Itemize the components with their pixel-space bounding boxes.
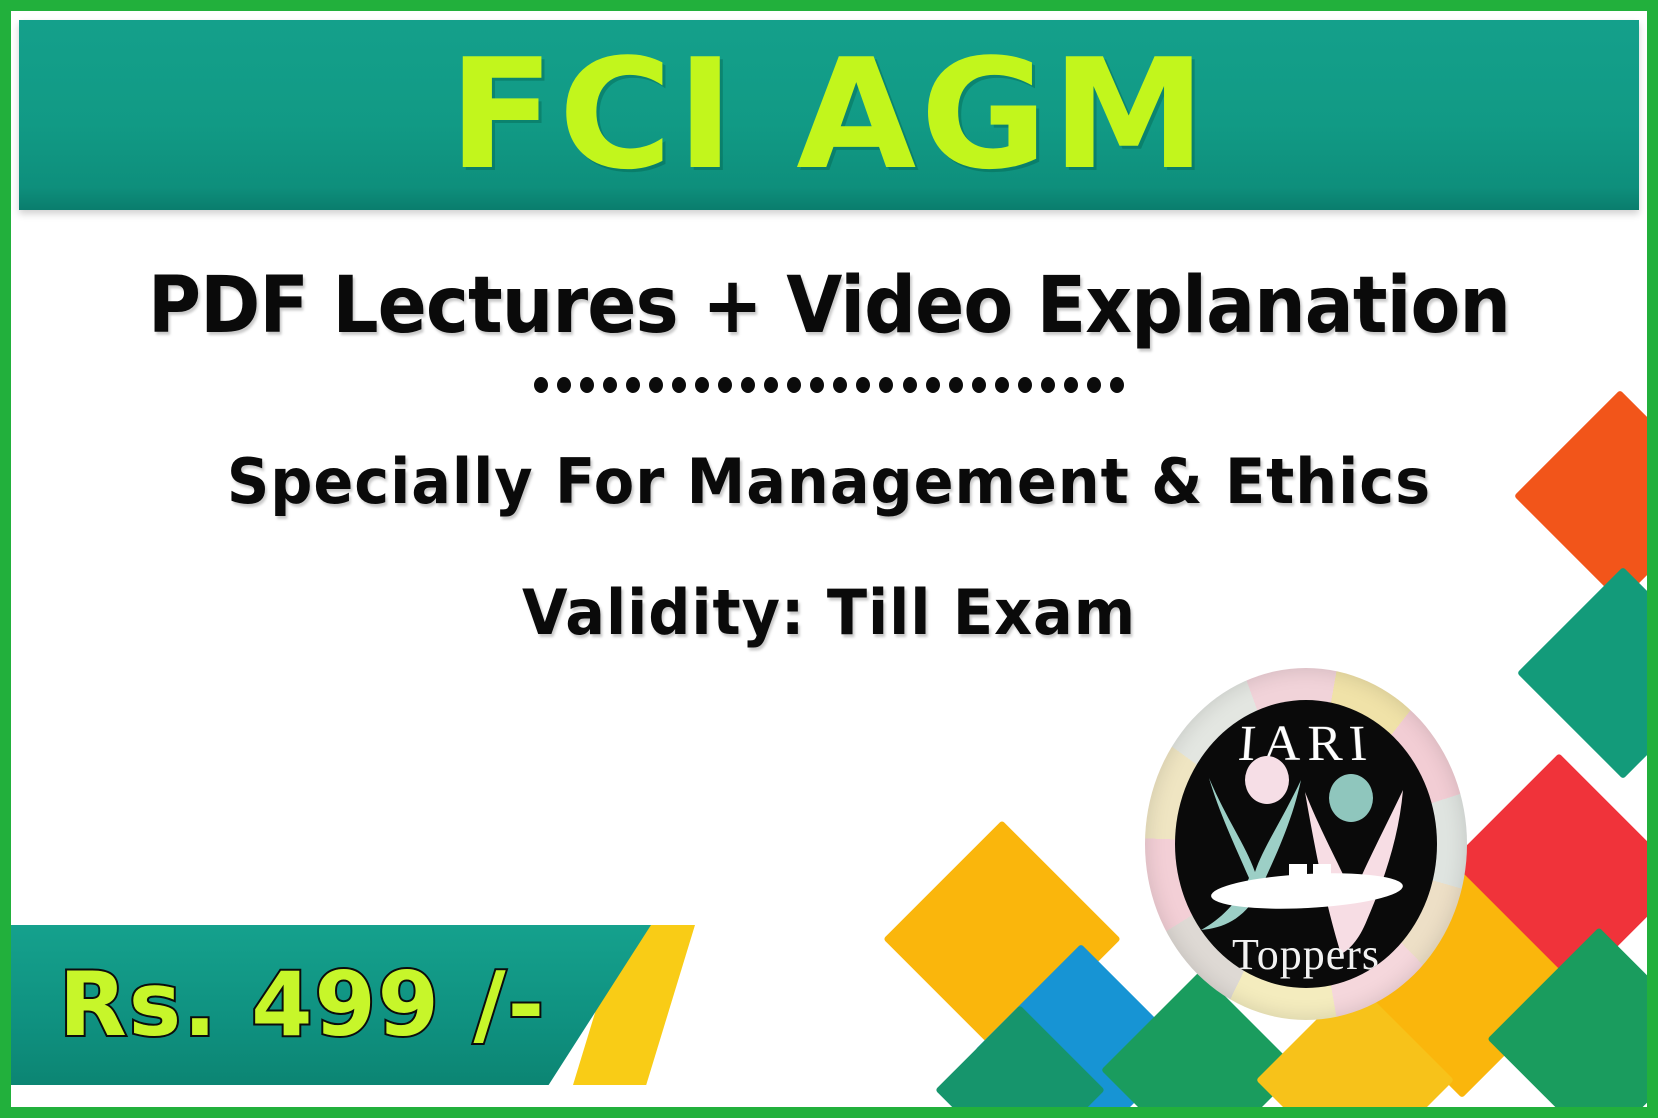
divider-dot (833, 377, 847, 393)
logo: IARI Toppers (1145, 668, 1467, 1020)
divider-dot (764, 377, 778, 393)
price-label: Rs. 499 /- (59, 961, 546, 1049)
divider-dot (1110, 377, 1124, 393)
diamond-yellow-mid (883, 820, 1121, 1058)
divider-dot (603, 377, 617, 393)
divider-dot (903, 377, 917, 393)
diamond-teal-low (935, 1005, 1105, 1107)
divider-dot (580, 377, 594, 393)
divider-dot (626, 377, 640, 393)
divider-dot (672, 377, 686, 393)
logo-head-right (1329, 774, 1373, 822)
divider-dot (1018, 377, 1032, 393)
divider-dot (787, 377, 801, 393)
divider-dot (810, 377, 824, 393)
divider-dot (949, 377, 963, 393)
poster-canvas: FCI AGM PDF Lectures + Video Explanation… (11, 11, 1647, 1107)
logo-brand-bottom: Toppers (1175, 929, 1437, 980)
page-title: FCI AGM (448, 39, 1209, 191)
price-ribbon: Rs. 499 /- (11, 925, 691, 1085)
divider-dot (1064, 377, 1078, 393)
divider-dot (972, 377, 986, 393)
feature-line-validity: Validity: Till Exam (52, 576, 1606, 649)
logo-head-left (1245, 756, 1289, 804)
divider-dot (557, 377, 571, 393)
feature-line-subject: Specially For Management & Ethics (52, 445, 1606, 518)
header-band: FCI AGM (19, 20, 1639, 210)
divider-dot (995, 377, 1009, 393)
divider-dot (649, 377, 663, 393)
price-ribbon-body: Rs. 499 /- (11, 925, 651, 1085)
divider-dot (718, 377, 732, 393)
divider-dot (856, 377, 870, 393)
divider-dot (879, 377, 893, 393)
logo-disc: IARI Toppers (1175, 700, 1437, 988)
dotted-divider (534, 377, 1124, 393)
divider-dot (741, 377, 755, 393)
divider-dot (926, 377, 940, 393)
divider-dot (695, 377, 709, 393)
body-content: PDF Lectures + Video Explanation Special… (11, 261, 1647, 649)
divider-dot (534, 377, 548, 393)
diamond-green-right (1487, 927, 1647, 1107)
poster-root: FCI AGM PDF Lectures + Video Explanation… (0, 0, 1658, 1118)
feature-line-lectures: PDF Lectures + Video Explanation (68, 261, 1589, 351)
divider-dot (1087, 377, 1101, 393)
logo-brand-top: IARI (1175, 716, 1437, 774)
divider-dot (1041, 377, 1055, 393)
